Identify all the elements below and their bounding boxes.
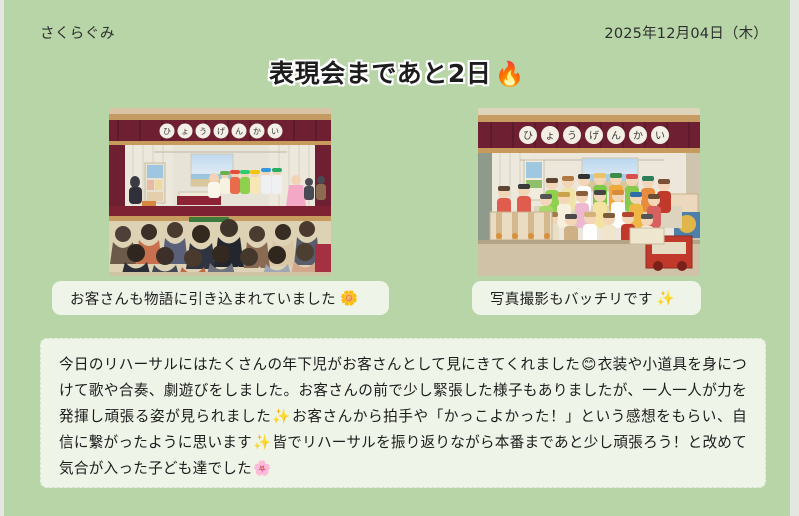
svg-text:い: い <box>271 127 279 136</box>
photo-caption-1: お客さんも物語に引き込まれていました🌼 <box>52 281 389 315</box>
fire-emoji-icon: 🔥 <box>495 60 525 88</box>
svg-text:ひ: ひ <box>523 131 533 142</box>
svg-text:ん: ん <box>235 127 243 136</box>
svg-text:ひ: ひ <box>163 127 171 136</box>
stage-performance-illustration: ひ ょ う げ ん か い <box>109 108 331 276</box>
svg-text:う: う <box>199 127 207 136</box>
post-date-label: 2025年12月04日（木） <box>604 22 768 43</box>
svg-text:か: か <box>253 127 261 136</box>
svg-text:げ: げ <box>589 130 599 142</box>
caption-2-text: 写真撮影もバッチリです <box>490 288 653 309</box>
post-body-box: 今日のリハーサルにはたくさんの年下児がお客さんとして見にきてくれました😊衣装や小… <box>40 338 766 488</box>
stage-performance-photo[interactable]: ひ ょ う げ ん か い <box>109 108 331 276</box>
svg-text:か: か <box>633 130 643 142</box>
svg-text:う: う <box>567 130 577 142</box>
body-emoji-icon: 🌸 <box>253 460 271 477</box>
body-emoji-icon: 😊 <box>581 356 597 373</box>
caption-1-text: お客さんも物語に引き込まれていました <box>70 288 336 309</box>
blog-post-page: さくらぐみ 2025年12月04日（木） 表現会まであと2日🔥 <box>0 0 799 516</box>
page-title-text: 表現会まであと2日 <box>269 59 492 88</box>
body-text-segment: 今日のリハーサルにはたくさんの年下児がお客さんとして見にきてくれました <box>59 356 580 373</box>
body-emoji-icon: ✨ <box>253 434 271 451</box>
post-body-text: 今日のリハーサルにはたくさんの年下児がお客さんとして見にきてくれました😊衣装や小… <box>59 352 747 482</box>
page-title: 表現会まであと2日🔥 <box>4 54 790 90</box>
body-emoji-icon: ✨ <box>272 408 291 425</box>
class-name-label: さくらぐみ <box>40 22 115 43</box>
post-header: さくらぐみ 2025年12月04日（木） <box>4 22 790 46</box>
photo-caption-2: 写真撮影もバッチリです✨ <box>472 281 701 315</box>
svg-text:い: い <box>655 131 665 142</box>
sparkles-emoji-icon: ✨ <box>657 290 675 307</box>
svg-text:ょ: ょ <box>181 127 189 136</box>
group-photo[interactable]: ひ ょ う げ ん か い <box>478 108 700 276</box>
svg-text:ん: ん <box>611 130 621 142</box>
svg-text:げ: げ <box>217 127 225 136</box>
svg-text:ょ: ょ <box>545 131 555 142</box>
flower-emoji-icon: 🌼 <box>340 290 358 307</box>
group-photo-illustration: ひ ょ う げ ん か い <box>478 108 700 276</box>
